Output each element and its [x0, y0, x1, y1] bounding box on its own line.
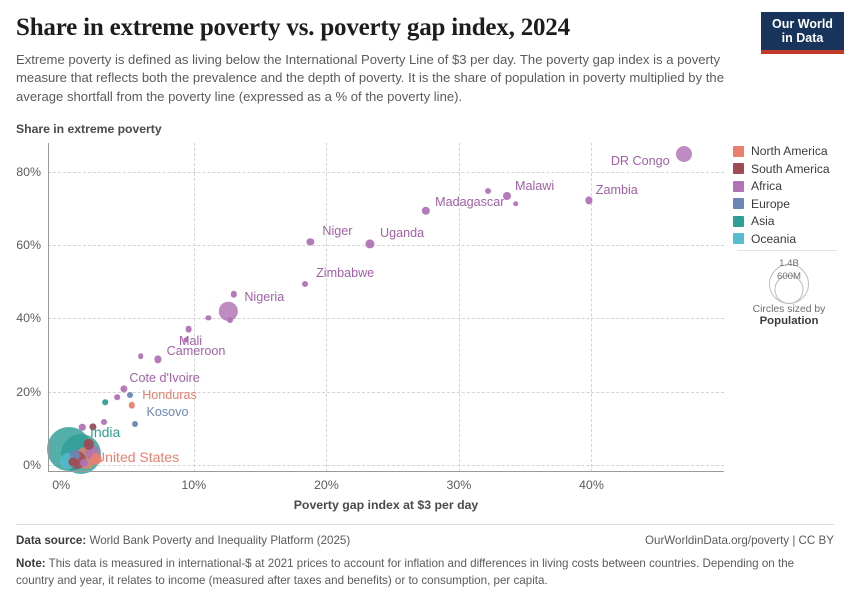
x-axis-line — [48, 471, 724, 472]
scatter-point-label: Madagascar — [435, 195, 504, 209]
scatter-point[interactable] — [485, 188, 491, 194]
note-label: Note: — [16, 557, 46, 570]
legend-item-label: Africa — [751, 179, 782, 193]
data-source-text: World Bank Poverty and Inequality Platfo… — [86, 534, 350, 547]
y-gridline — [48, 172, 724, 173]
logo-line-1: Our World — [761, 17, 844, 31]
scatter-point[interactable] — [302, 281, 308, 287]
footer-attribution[interactable]: OurWorldinData.org/poverty | CC BY — [645, 533, 834, 550]
footer-source-row: Data source: World Bank Poverty and Ineq… — [16, 533, 834, 550]
x-tick-label: 20% — [314, 478, 339, 492]
logo-line-2: in Data — [761, 31, 844, 45]
legend-swatch-icon — [733, 198, 744, 209]
scatter-point[interactable] — [206, 315, 211, 320]
legend-item-label: Asia — [751, 214, 775, 228]
scatter-point[interactable] — [138, 354, 144, 360]
legend-swatch-icon — [733, 146, 744, 157]
scatter-point-label: Cote d'Ivoire — [129, 371, 199, 385]
size-legend: 1.4B 600M Circles sized by Population — [733, 258, 845, 327]
legend-item-label: North America — [751, 144, 828, 158]
scatter-point[interactable] — [132, 421, 138, 427]
scatter-point[interactable] — [227, 317, 233, 323]
footer-divider — [16, 524, 834, 525]
scatter-point-label: Nigeria — [244, 290, 284, 304]
scatter-point[interactable] — [422, 206, 430, 214]
size-legend-metric: Population — [733, 315, 845, 327]
y-tick-label: 40% — [16, 311, 41, 325]
size-label-small: 600M — [777, 271, 801, 282]
size-legend-circles: 1.4B 600M — [733, 258, 845, 302]
scatter-point-label: United States — [95, 449, 179, 465]
scatter-point[interactable] — [114, 395, 120, 401]
legend-divider — [737, 250, 837, 251]
y-tick-label: 0% — [23, 458, 41, 472]
size-legend-caption: Circles sized by — [733, 304, 845, 315]
y-tick-label: 20% — [16, 385, 41, 399]
size-label-large: 1.4B — [779, 258, 799, 269]
scatter-point[interactable] — [102, 399, 108, 405]
legend-swatch-icon — [733, 181, 744, 192]
chart-page: Share in extreme poverty vs. poverty gap… — [0, 0, 850, 600]
legend-item-europe[interactable]: Europe — [733, 197, 845, 211]
x-axis-title: Poverty gap index at $3 per day — [48, 498, 724, 512]
scatter-point[interactable] — [127, 392, 133, 398]
page-title: Share in extreme poverty vs. poverty gap… — [16, 14, 756, 42]
data-source-label: Data source: — [16, 534, 86, 547]
scatter-point-label: Kosovo — [146, 405, 188, 419]
scatter-point[interactable] — [307, 238, 314, 245]
legend-item-asia[interactable]: Asia — [733, 214, 845, 228]
scatter-point[interactable] — [80, 459, 88, 467]
x-tick-label: 0% — [52, 478, 70, 492]
x-tick-label: 30% — [446, 478, 471, 492]
y-tick-label: 80% — [16, 165, 41, 179]
scatter-point-label: DR Congo — [611, 154, 670, 168]
scatter-point[interactable] — [366, 240, 375, 249]
scatter-point[interactable] — [513, 201, 519, 207]
legend-swatch-icon — [733, 216, 744, 227]
scatter-point[interactable] — [185, 326, 192, 333]
legend-item-africa[interactable]: Africa — [733, 179, 845, 193]
legend-item-oceania[interactable]: Oceania — [733, 232, 845, 246]
y-axis-line — [48, 143, 49, 472]
scatter-point-label: Zimbabwe — [316, 266, 374, 280]
data-source: Data source: World Bank Poverty and Ineq… — [16, 533, 350, 550]
plot-area[interactable]: 0%20%40%60%80%0%10%20%30%40%DR CongoMala… — [48, 143, 724, 472]
footer-note: Note: This data is measured in internati… — [16, 556, 834, 590]
legend-item-label: South America — [751, 162, 830, 176]
scatter-point[interactable] — [676, 146, 692, 162]
scatter-point-label: Niger — [322, 224, 352, 238]
scatter-point-label: Uganda — [380, 226, 424, 240]
x-gridline — [459, 143, 460, 472]
x-tick-label: 10% — [181, 478, 206, 492]
scatter-point[interactable] — [69, 458, 78, 467]
legend-swatch-icon — [733, 233, 744, 244]
legend-item-north-america[interactable]: North America — [733, 144, 845, 158]
legend-item-label: Europe — [751, 197, 790, 211]
continent-legend[interactable]: North AmericaSouth AmericaAfricaEuropeAs… — [733, 144, 845, 249]
x-tick-label: 40% — [579, 478, 604, 492]
scatter-point[interactable] — [128, 402, 134, 408]
plot-canvas: 0%20%40%60%80%0%10%20%30%40%DR CongoMala… — [48, 143, 724, 472]
scatter-point-label: Cameroon — [167, 344, 226, 358]
owid-logo[interactable]: Our World in Data — [761, 12, 844, 54]
x-gridline — [326, 143, 327, 472]
scatter-point[interactable] — [154, 356, 161, 363]
y-gridline — [48, 245, 724, 246]
y-axis-title: Share in extreme poverty — [16, 122, 162, 136]
y-gridline — [48, 318, 724, 319]
y-tick-label: 60% — [16, 238, 41, 252]
x-gridline — [591, 143, 592, 472]
legend-item-south-america[interactable]: South America — [733, 162, 845, 176]
x-gridline — [194, 143, 195, 472]
scatter-point-label: India — [90, 424, 120, 440]
chart-subtitle: Extreme poverty is defined as living bel… — [16, 51, 746, 108]
scatter-point-label: Zambia — [596, 183, 638, 197]
note-text: This data is measured in international-$… — [16, 557, 794, 587]
legend-item-label: Oceania — [751, 232, 796, 246]
scatter-point-label: Honduras — [142, 388, 197, 402]
scatter-point[interactable] — [230, 291, 236, 297]
chart-header: Share in extreme poverty vs. poverty gap… — [16, 14, 756, 107]
legend-swatch-icon — [733, 163, 744, 174]
scatter-point-label: Malawi — [515, 179, 554, 193]
chart-footer: Data source: World Bank Poverty and Ineq… — [16, 533, 834, 589]
